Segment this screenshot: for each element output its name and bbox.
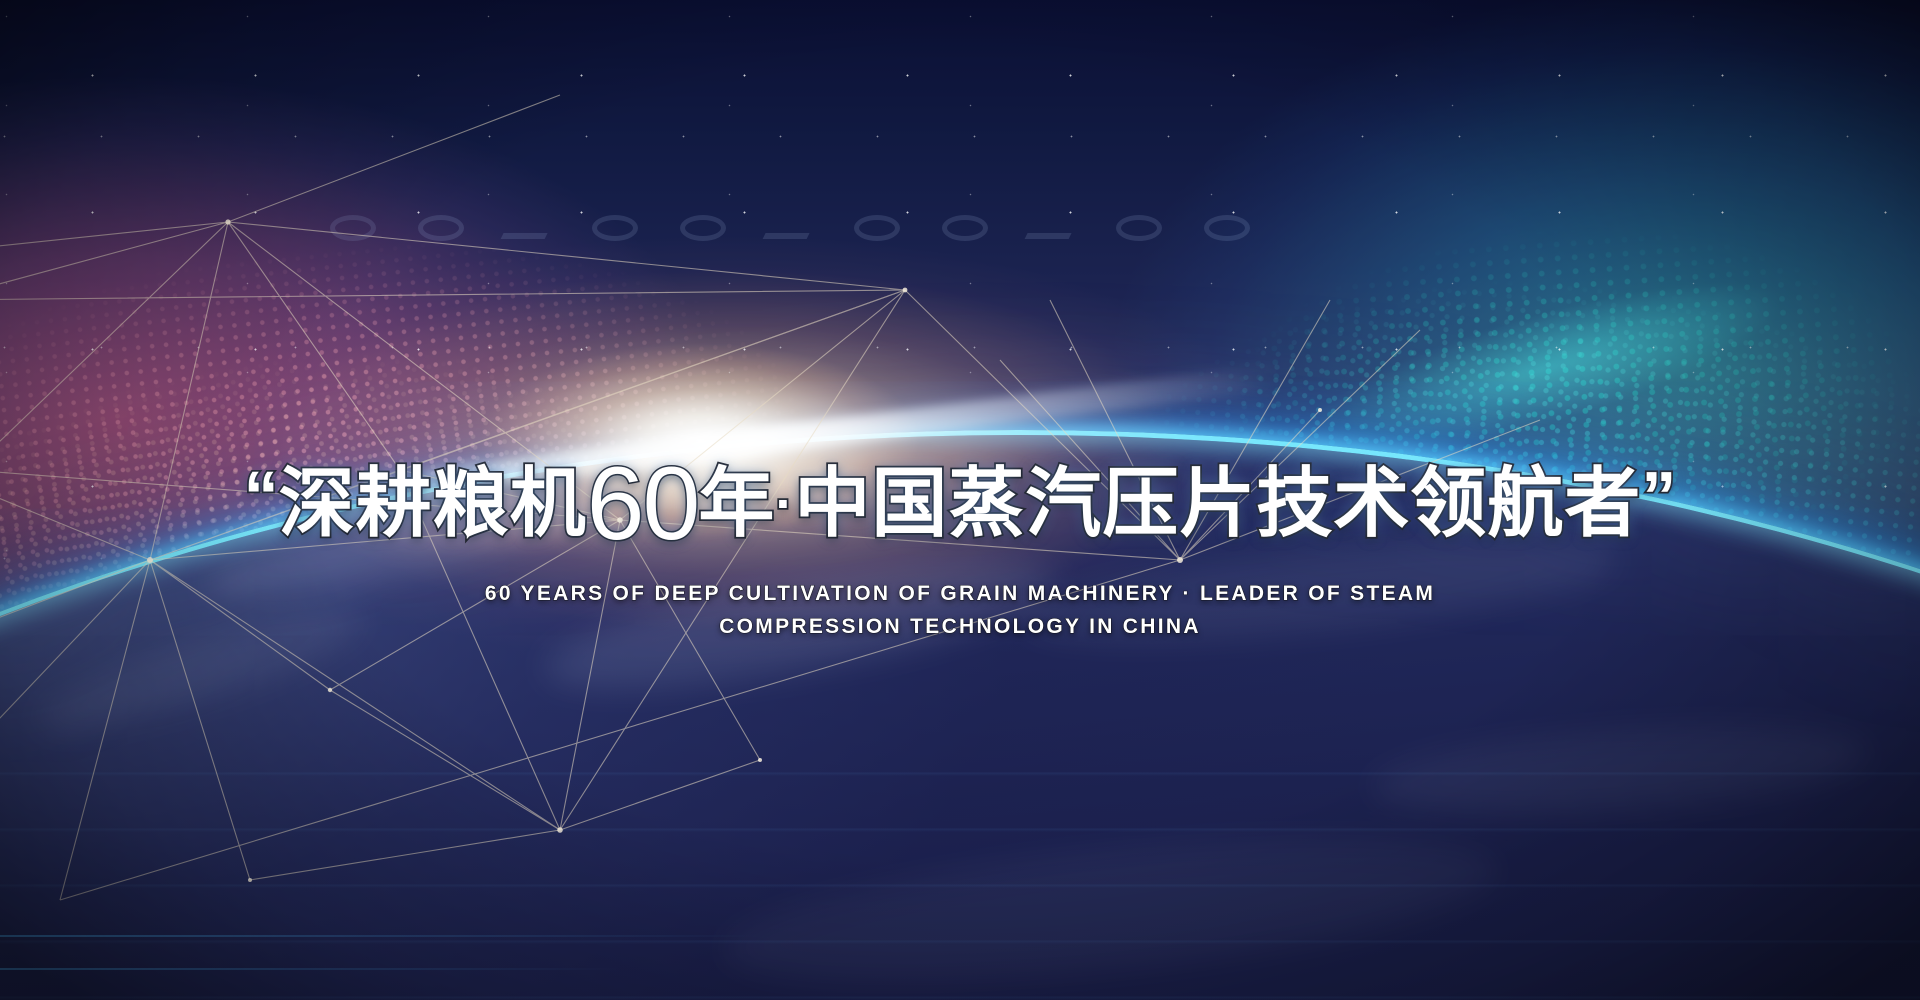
headline-number: 60	[587, 446, 699, 562]
close-quote: ”	[1641, 457, 1676, 535]
headline-separator: ·	[775, 474, 794, 534]
banner-text-block: “深耕粮机60年·中国蒸汽压片技术领航者” 60 YEARS OF DEEP C…	[0, 452, 1920, 643]
headline-part-1: 深耕粮机	[279, 462, 587, 547]
headline-part-2: 年	[698, 462, 775, 547]
open-quote: “	[244, 457, 279, 535]
subtitle-line-1: 60 YEARS OF DEEP CULTIVATION OF GRAIN MA…	[410, 578, 1510, 611]
page-title: “深耕粮机60年·中国蒸汽压片技术领航者”	[244, 452, 1677, 556]
banner-subtitle: 60 YEARS OF DEEP CULTIVATION OF GRAIN MA…	[410, 578, 1510, 643]
subtitle-line-2: COMPRESSION TECHNOLOGY IN CHINA	[410, 611, 1510, 644]
hero-banner: “深耕粮机60年·中国蒸汽压片技术领航者” 60 YEARS OF DEEP C…	[0, 0, 1920, 1000]
headline-part-3: 中国蒸汽压片技术领航者	[794, 462, 1641, 547]
